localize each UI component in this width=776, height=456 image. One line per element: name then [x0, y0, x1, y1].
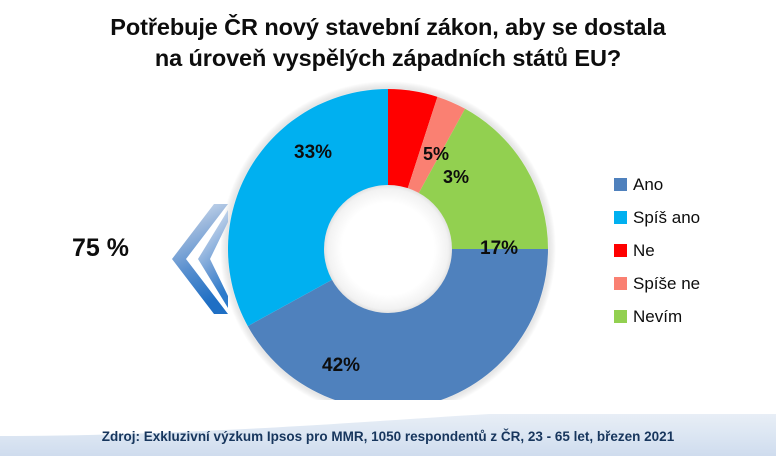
legend-item-ano[interactable]: Ano [614, 168, 764, 201]
legend-label-nevim: Nevím [633, 308, 682, 325]
chart-legend: Ano Spíš ano Ne Spíše ne Nevím [614, 168, 764, 333]
data-label-spis-ano: 33% [294, 142, 332, 164]
legend-swatch-ano [614, 178, 627, 191]
legend-label-spise-ne: Spíše ne [633, 275, 700, 292]
legend-label-ano: Ano [633, 176, 663, 193]
chevron-left-icon [152, 204, 228, 314]
legend-item-spis-ano[interactable]: Spíš ano [614, 201, 764, 234]
legend-item-ne[interactable]: Ne [614, 234, 764, 267]
title-line-2: na úroveň vyspělých západních států EU? [48, 43, 728, 74]
source-note: Zdroj: Exkluzivní výzkum Ipsos pro MMR, … [0, 429, 776, 444]
legend-label-ne: Ne [633, 242, 655, 259]
data-label-spise-ne: 3% [443, 167, 469, 188]
legend-label-spis-ano: Spíš ano [633, 209, 700, 226]
callout-value: 75 % [72, 234, 129, 263]
legend-swatch-ne [614, 244, 627, 257]
legend-item-nevim[interactable]: Nevím [614, 300, 764, 333]
page-title: Potřebuje ČR nový stavební zákon, aby se… [48, 12, 728, 74]
data-label-ano: 42% [322, 355, 360, 377]
legend-swatch-nevim [614, 310, 627, 323]
legend-item-spise-ne[interactable]: Spíše ne [614, 267, 764, 300]
slide-canvas: Potřebuje ČR nový stavební zákon, aby se… [0, 0, 776, 456]
legend-swatch-spise-ne [614, 277, 627, 290]
title-line-1: Potřebuje ČR nový stavební zákon, aby se… [48, 12, 728, 43]
donut-hole [324, 185, 452, 313]
legend-swatch-spis-ano [614, 211, 627, 224]
data-label-ne: 5% [423, 144, 449, 165]
data-label-nevim: 17% [480, 238, 518, 260]
